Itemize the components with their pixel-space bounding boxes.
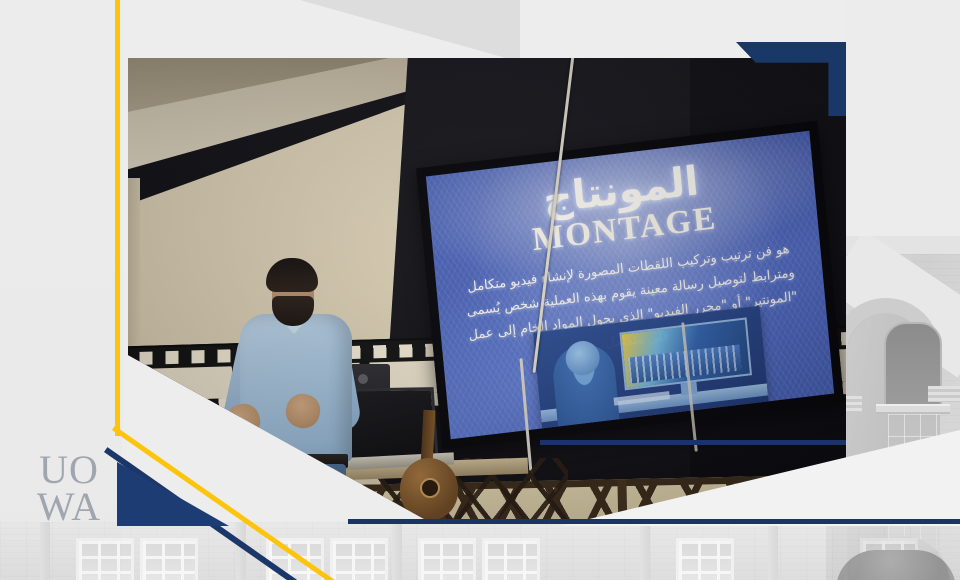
uowa-logo: UO WA: [30, 452, 108, 534]
presenter-figure: [224, 256, 372, 522]
watermark-window: [140, 538, 198, 580]
watermark-pilaster: [640, 522, 650, 580]
poster-canvas: المونتاج MONTAGE هو فن ترتيب وتركيب اللق…: [0, 0, 960, 580]
uowa-logo-line-2: WA: [30, 489, 108, 526]
projection-screen-frame: المونتاج MONTAGE هو فن ترتيب وتركيب اللق…: [416, 121, 844, 450]
background-right-panel: [846, 0, 960, 240]
yellow-accent-line: [115, 0, 120, 436]
watermark-window: [676, 538, 734, 580]
watermark-window: [482, 538, 540, 580]
watermark-balcony-rail: [876, 404, 950, 414]
presenter-hair: [266, 258, 318, 292]
railing-post: [267, 486, 277, 522]
presenter-jeans: [248, 464, 346, 522]
watermark-window: [418, 538, 476, 580]
navy-horizontal-rule-upper: [540, 440, 846, 445]
watermark-cornice-right: [928, 386, 960, 402]
grey-diagonal-top: [300, 0, 520, 62]
lecture-photograph: المونتاج MONTAGE هو فن ترتيب وتركيب اللق…: [128, 58, 846, 522]
presenter-shirt: [240, 314, 352, 462]
watermark-pilaster: [392, 522, 402, 580]
guitar-soundhole: [420, 478, 440, 498]
watermark-pilaster: [768, 522, 778, 580]
watermark-window: [330, 538, 388, 580]
watermark-facade: [0, 522, 960, 580]
watermark-window: [76, 538, 134, 580]
projection-screen: المونتاج MONTAGE هو فن ترتيب وتركيب اللق…: [426, 131, 834, 440]
navy-horizontal-rule: [348, 519, 960, 524]
